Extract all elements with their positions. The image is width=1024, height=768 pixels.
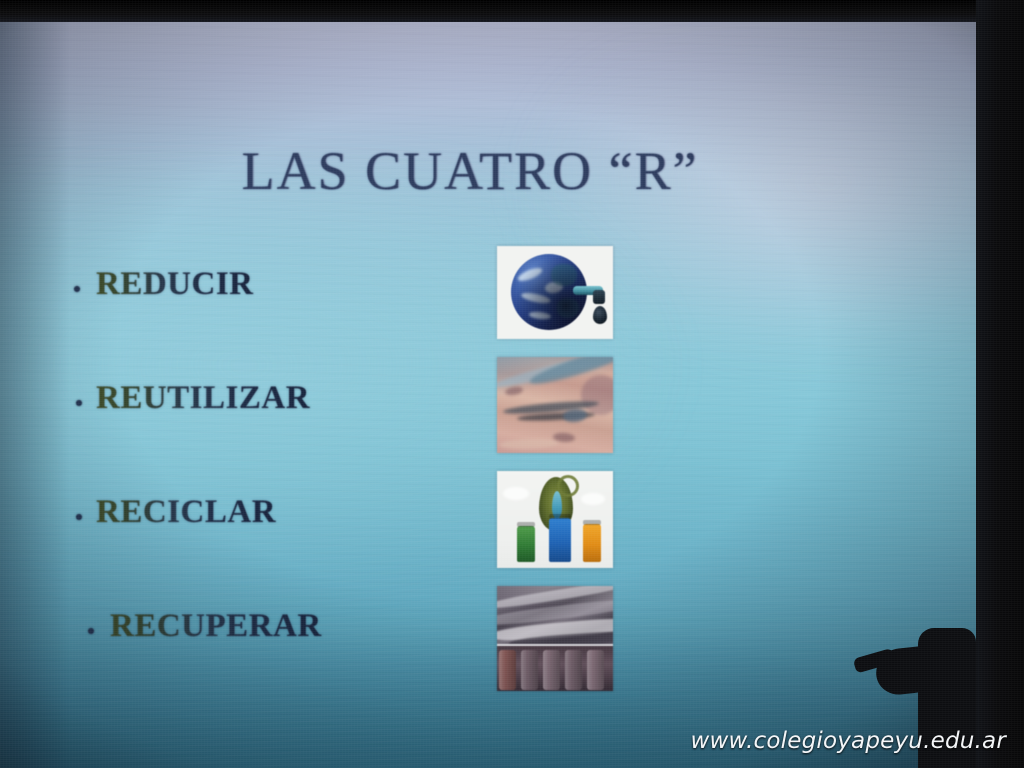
projection-screen: LAS CUATRO “R” REDUCIR REUTILIZAR RECICL… [0,22,977,768]
photo-vignette [0,22,977,768]
room-dark-border-top [0,0,1024,24]
room-dark-border-right [976,0,1024,768]
website-watermark: www.colegioyapeyu.edu.ar [690,728,1006,754]
projected-slide-photograph: LAS CUATRO “R” REDUCIR REUTILIZAR RECICL… [0,0,1024,768]
